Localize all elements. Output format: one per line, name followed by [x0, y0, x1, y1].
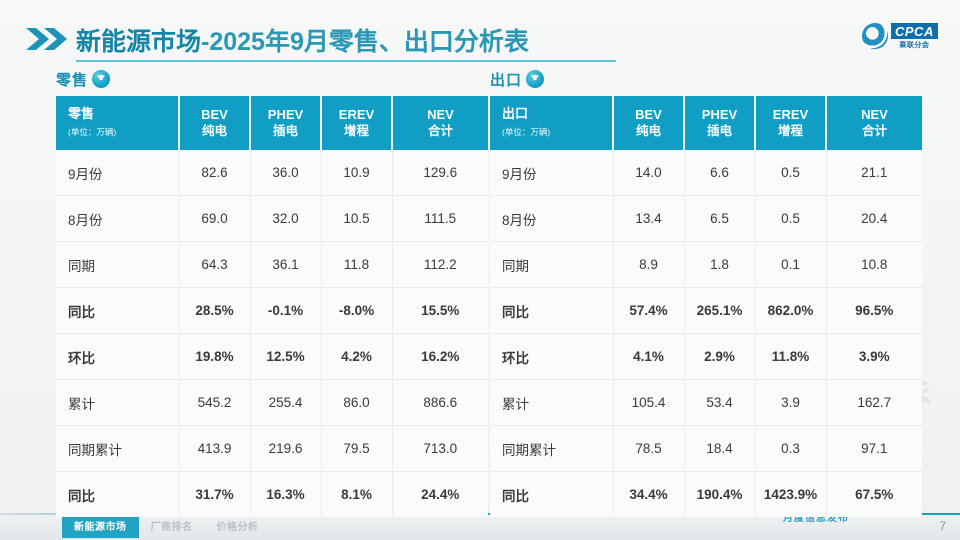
- table-header-row: 出口 (单位：万辆) BEV 纯电 PHEV 插电 EREV 增程: [490, 96, 922, 150]
- retail-cell: 69.0: [179, 196, 250, 242]
- retail-cell: 219.6: [250, 426, 321, 472]
- export-cell: 53.4: [684, 380, 755, 426]
- table-row: 环比19.8%12.5%4.2%16.2%: [56, 334, 488, 380]
- panel-retail-title: 零售: [56, 69, 88, 90]
- retail-cell: 11.8: [321, 242, 392, 288]
- retail-header-unit: (单位：万辆): [68, 124, 178, 140]
- retail-row-label: 8月份: [56, 196, 179, 242]
- panel-retail-heading: 零售: [56, 68, 468, 90]
- retail-cell: 10.9: [321, 150, 392, 196]
- retail-cell: 36.1: [250, 242, 321, 288]
- retail-cell: -8.0%: [321, 288, 392, 334]
- cpca-logo: CPCA 乘联分会: [862, 22, 948, 50]
- export-cell: 18.4: [684, 426, 755, 472]
- export-cell: 3.9: [755, 380, 826, 426]
- export-header-unit: (单位：万辆): [502, 124, 612, 140]
- export-cell: 97.1: [826, 426, 922, 472]
- export-header-nev: NEV 合计: [826, 96, 922, 150]
- export-cell: 162.7: [826, 380, 922, 426]
- export-row-label: 同比: [490, 288, 613, 334]
- cpca-swirl-icon: [862, 23, 888, 49]
- export-header-bev-cn: 纯电: [614, 123, 683, 139]
- export-cell: 6.6: [684, 150, 755, 196]
- table-row: 同比34.4%190.4%1423.9%67.5%: [490, 472, 922, 518]
- export-header-phev-cn: 插电: [685, 123, 754, 139]
- page-title: 新能源市场-2025年9月零售、出口分析表: [76, 22, 529, 58]
- retail-cell: 36.0: [250, 150, 321, 196]
- retail-header-label: 零售 (单位：万辆): [56, 96, 179, 150]
- table-row: 8月份13.46.50.520.4: [490, 196, 922, 242]
- export-cell: 2.9%: [684, 334, 755, 380]
- export-cell: 0.1: [755, 242, 826, 288]
- retail-header-nev-cn: 合计: [393, 123, 488, 139]
- retail-header-erev: EREV 增程: [321, 96, 392, 150]
- retail-cell: 886.6: [392, 380, 488, 426]
- double-chevron-right-icon: [24, 26, 70, 52]
- table-row: 同比31.7%16.3%8.1%24.4%: [56, 472, 488, 518]
- retail-row-label: 同比: [56, 472, 179, 518]
- export-cell: 3.9%: [826, 334, 922, 380]
- export-cell: 0.5: [755, 196, 826, 242]
- export-cell: 1.8: [684, 242, 755, 288]
- export-header-bev: BEV 纯电: [613, 96, 684, 150]
- retail-header-phev: PHEV 插电: [250, 96, 321, 150]
- retail-cell: 12.5%: [250, 334, 321, 380]
- export-header-bev-en: BEV: [614, 107, 683, 123]
- table-row: 环比4.1%2.9%11.8%3.9%: [490, 334, 922, 380]
- export-cell: 862.0%: [755, 288, 826, 334]
- retail-header-phev-en: PHEV: [251, 107, 320, 123]
- retail-header-phev-cn: 插电: [251, 123, 320, 139]
- retail-cell: 24.4%: [392, 472, 488, 518]
- slide-canvas: 乘联分会乘联分会乘联分会乘联分会乘联分会乘联分会乘联分会乘联分会 新能源市场-2…: [0, 0, 960, 540]
- title-underline: [76, 60, 616, 62]
- export-row-label: 环比: [490, 334, 613, 380]
- retail-table-body: 9月份82.636.010.9129.68月份69.032.010.5111.5…: [56, 150, 488, 517]
- retail-cell: 545.2: [179, 380, 250, 426]
- retail-row-label: 同比: [56, 288, 179, 334]
- retail-header-bev: BEV 纯电: [179, 96, 250, 150]
- retail-cell: 10.5: [321, 196, 392, 242]
- retail-cell: 64.3: [179, 242, 250, 288]
- export-cell: 20.4: [826, 196, 922, 242]
- retail-cell: 255.4: [250, 380, 321, 426]
- export-cell: 4.1%: [613, 334, 684, 380]
- export-cell: 6.5: [684, 196, 755, 242]
- export-header-nev-en: NEV: [827, 107, 922, 123]
- table-row: 同期8.91.80.110.8: [490, 242, 922, 288]
- panel-retail: 零售 零售 (单位：万辆) BEV 纯电 PHEV 插电: [56, 68, 468, 517]
- export-cell: 0.3: [755, 426, 826, 472]
- export-cell: 105.4: [613, 380, 684, 426]
- page-title-suffix: -2025年9月零售、出口分析表: [201, 28, 529, 56]
- export-cell: 21.1: [826, 150, 922, 196]
- export-row-label: 同期累计: [490, 426, 613, 472]
- retail-cell: 19.8%: [179, 334, 250, 380]
- cpca-abbr: CPCA: [891, 23, 938, 39]
- retail-cell: 112.2: [392, 242, 488, 288]
- retail-cell: 86.0: [321, 380, 392, 426]
- export-header-phev-en: PHEV: [685, 107, 754, 123]
- export-row-label: 同比: [490, 472, 613, 518]
- retail-row-label: 9月份: [56, 150, 179, 196]
- table-row: 同比28.5%-0.1%-8.0%15.5%: [56, 288, 488, 334]
- panel-export: 出口 出口 (单位：万辆) BEV 纯电 PHEV 插电: [490, 68, 902, 517]
- export-header-label: 出口 (单位：万辆): [490, 96, 613, 150]
- export-header-phev: PHEV 插电: [684, 96, 755, 150]
- export-cell: 190.4%: [684, 472, 755, 518]
- export-cell: 0.5: [755, 150, 826, 196]
- table-row: 同期64.336.111.8112.2: [56, 242, 488, 288]
- footer-tab-2[interactable]: 价格分析: [205, 517, 271, 538]
- export-cell: 34.4%: [613, 472, 684, 518]
- export-row-label: 累计: [490, 380, 613, 426]
- export-header-erev-en: EREV: [756, 107, 825, 123]
- export-header-erev: EREV 增程: [755, 96, 826, 150]
- retail-cell: 32.0: [250, 196, 321, 242]
- footer-tab-1[interactable]: 厂商排名: [139, 517, 205, 538]
- retail-row-label: 同期累计: [56, 426, 179, 472]
- retail-header-bev-cn: 纯电: [180, 123, 249, 139]
- export-header-label-text: 出口: [502, 106, 528, 121]
- footer-tab-0[interactable]: 新能源市场: [62, 517, 139, 538]
- cpca-name-cn: 乘联分会: [899, 40, 929, 50]
- export-header-nev-cn: 合计: [827, 123, 922, 139]
- export-cell: 265.1%: [684, 288, 755, 334]
- retail-header-nev-en: NEV: [393, 107, 488, 123]
- retail-cell: 82.6: [179, 150, 250, 196]
- page-title-prefix: 新能源市场: [76, 28, 201, 56]
- retail-row-label: 同期: [56, 242, 179, 288]
- slide-title-bar: 新能源市场-2025年9月零售、出口分析表 CPCA 乘联分会: [0, 12, 960, 58]
- table-header-row: 零售 (单位：万辆) BEV 纯电 PHEV 插电 EREV 增程: [56, 96, 488, 150]
- panel-export-heading: 出口: [490, 68, 902, 90]
- export-row-label: 8月份: [490, 196, 613, 242]
- retail-cell: 15.5%: [392, 288, 488, 334]
- retail-cell: 16.2%: [392, 334, 488, 380]
- retail-table: 零售 (单位：万辆) BEV 纯电 PHEV 插电 EREV 增程: [56, 96, 488, 517]
- table-row: 9月份14.06.60.521.1: [490, 150, 922, 196]
- export-cell: 13.4: [613, 196, 684, 242]
- table-row: 累计105.453.43.9162.7: [490, 380, 922, 426]
- export-header-erev-cn: 增程: [756, 123, 825, 139]
- circle-down-arrow-icon: [92, 70, 110, 88]
- retail-header-label-text: 零售: [68, 106, 94, 121]
- table-row: 同期累计413.9219.679.5713.0: [56, 426, 488, 472]
- retail-cell: 129.6: [392, 150, 488, 196]
- export-cell: 10.8: [826, 242, 922, 288]
- retail-cell: 111.5: [392, 196, 488, 242]
- table-row: 9月份82.636.010.9129.6: [56, 150, 488, 196]
- retail-cell: 31.7%: [179, 472, 250, 518]
- retail-cell: 79.5: [321, 426, 392, 472]
- circle-down-arrow-icon: [526, 70, 544, 88]
- export-cell: 67.5%: [826, 472, 922, 518]
- retail-header-erev-cn: 增程: [322, 123, 391, 139]
- retail-cell: 4.2%: [321, 334, 392, 380]
- table-row: 同期累计78.518.40.397.1: [490, 426, 922, 472]
- retail-cell: -0.1%: [250, 288, 321, 334]
- table-row: 累计545.2255.486.0886.6: [56, 380, 488, 426]
- table-row: 同比57.4%265.1%862.0%96.5%: [490, 288, 922, 334]
- export-table-body: 9月份14.06.60.521.18月份13.46.50.520.4同期8.91…: [490, 150, 922, 517]
- export-cell: 57.4%: [613, 288, 684, 334]
- export-table-head: 出口 (单位：万辆) BEV 纯电 PHEV 插电 EREV 增程: [490, 96, 922, 150]
- retail-row-label: 环比: [56, 334, 179, 380]
- retail-cell: 28.5%: [179, 288, 250, 334]
- export-cell: 78.5: [613, 426, 684, 472]
- retail-cell: 8.1%: [321, 472, 392, 518]
- retail-table-head: 零售 (单位：万辆) BEV 纯电 PHEV 插电 EREV 增程: [56, 96, 488, 150]
- export-table: 出口 (单位：万辆) BEV 纯电 PHEV 插电 EREV 增程: [490, 96, 922, 517]
- export-cell: 11.8%: [755, 334, 826, 380]
- panel-export-title: 出口: [490, 69, 522, 90]
- retail-cell: 16.3%: [250, 472, 321, 518]
- export-cell: 14.0: [613, 150, 684, 196]
- export-cell: 96.5%: [826, 288, 922, 334]
- retail-header-nev: NEV 合计: [392, 96, 488, 150]
- export-cell: 1423.9%: [755, 472, 826, 518]
- export-row-label: 同期: [490, 242, 613, 288]
- footer-tabs[interactable]: 新能源市场厂商排名价格分析: [62, 517, 271, 538]
- table-row: 8月份69.032.010.5111.5: [56, 196, 488, 242]
- retail-header-erev-en: EREV: [322, 107, 391, 123]
- retail-header-bev-en: BEV: [180, 107, 249, 123]
- export-cell: 8.9: [613, 242, 684, 288]
- page-number: 7: [939, 519, 946, 533]
- retail-row-label: 累计: [56, 380, 179, 426]
- export-row-label: 9月份: [490, 150, 613, 196]
- retail-cell: 713.0: [392, 426, 488, 472]
- retail-cell: 413.9: [179, 426, 250, 472]
